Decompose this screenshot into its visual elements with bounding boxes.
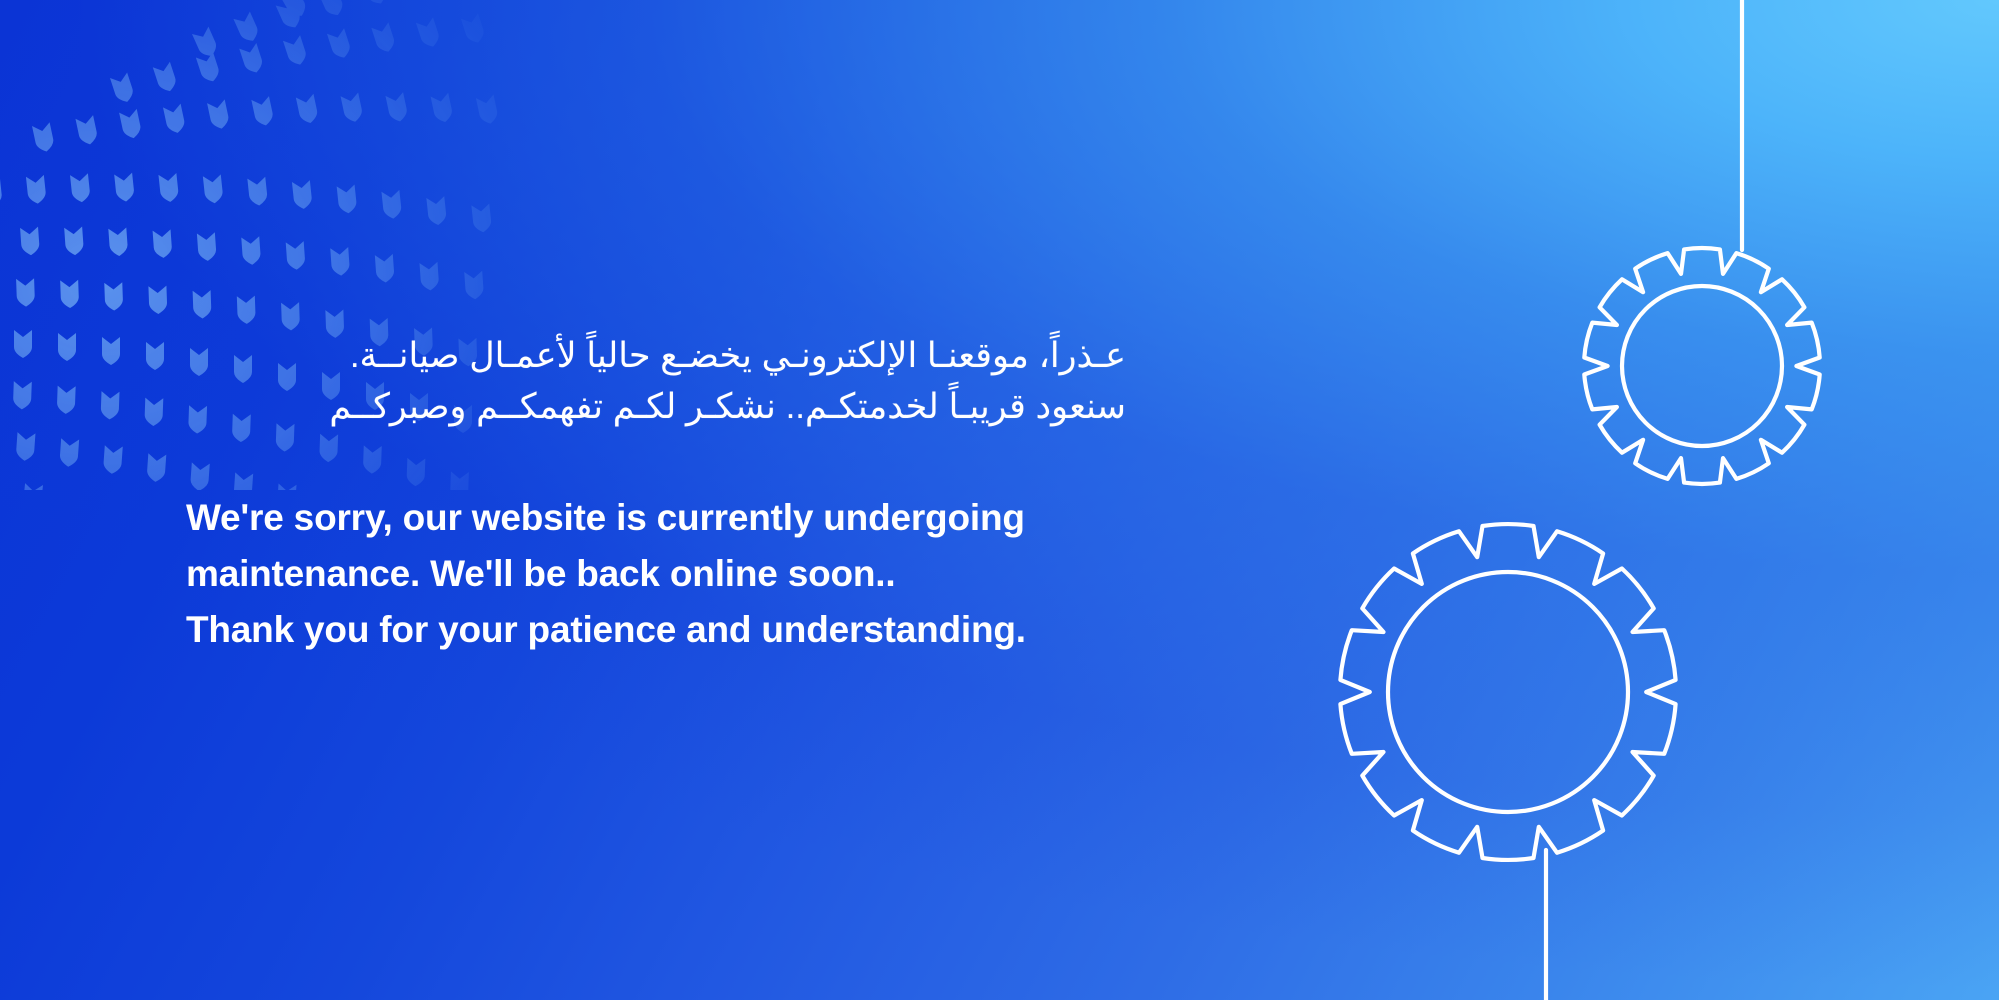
arabic-line-2: سنعود قريبـاً لخدمتكـم.. نشكـر لكـم تفهم… <box>186 381 1126 432</box>
maintenance-page: عـذراً، موقعنـا الإلكترونـي يخضـع حالياً… <box>0 0 1999 1000</box>
arabic-line-1: عـذراً، موقعنـا الإلكترونـي يخضـع حالياً… <box>186 330 1126 381</box>
english-message: We're sorry, our website is currently un… <box>186 490 1206 658</box>
maintenance-message: عـذراً، موقعنـا الإلكترونـي يخضـع حالياً… <box>186 330 1206 658</box>
english-line-1: We're sorry, our website is currently un… <box>186 490 1206 546</box>
large-gear-outline <box>1340 524 1675 860</box>
gear-shapes <box>1340 0 1819 1000</box>
arabic-message: عـذراً، موقعنـا الإلكترونـي يخضـع حالياً… <box>186 330 1126 432</box>
english-line-2: maintenance. We'll be back online soon.. <box>186 546 1206 602</box>
english-line-3: Thank you for your patience and understa… <box>186 602 1206 658</box>
small-gear-outline <box>1584 248 1819 484</box>
large-gear-hub-circle <box>1388 572 1628 812</box>
small-gear-hub-circle <box>1622 286 1782 446</box>
message-spacer <box>186 432 1206 490</box>
